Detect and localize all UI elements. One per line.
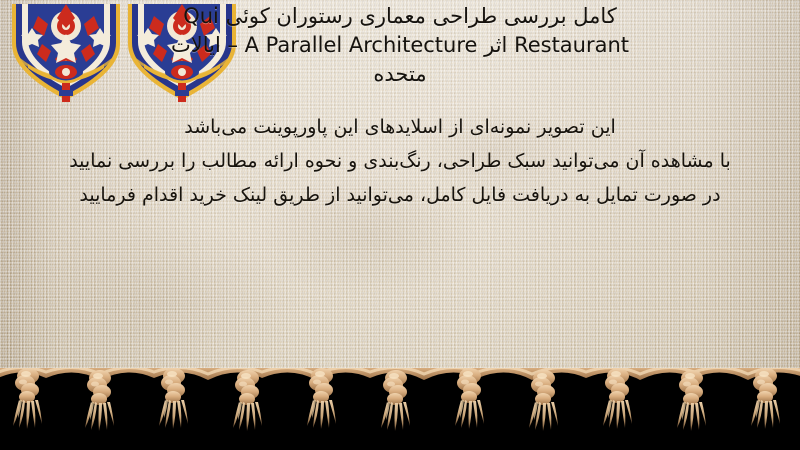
title-line-3: متحده [0, 60, 800, 89]
title-line-2: Restaurant اثر A Parallel Architecture –… [0, 31, 800, 60]
title-line-1: کامل بررسی طراحی معماری رستوران کوئی Qui [0, 2, 800, 31]
body-line-2: با مشاهده آن می‌توانید سبک طراحی، رنگ‌بن… [0, 144, 800, 178]
body-line-1: این تصویر نمونه‌ای از اسلایدهای این پاور… [0, 110, 800, 144]
slide-canvas: کامل بررسی طراحی معماری رستوران کوئی Qui… [0, 0, 800, 450]
slide-body-text: این تصویر نمونه‌ای از اسلایدهای این پاور… [0, 110, 800, 212]
tassel-row [0, 368, 800, 450]
carpet-fringe-band [0, 368, 800, 450]
body-line-3: در صورت تمایل به دریافت فایل کامل، می‌تو… [0, 178, 800, 212]
slide-title: کامل بررسی طراحی معماری رستوران کوئی Qui… [0, 2, 800, 89]
